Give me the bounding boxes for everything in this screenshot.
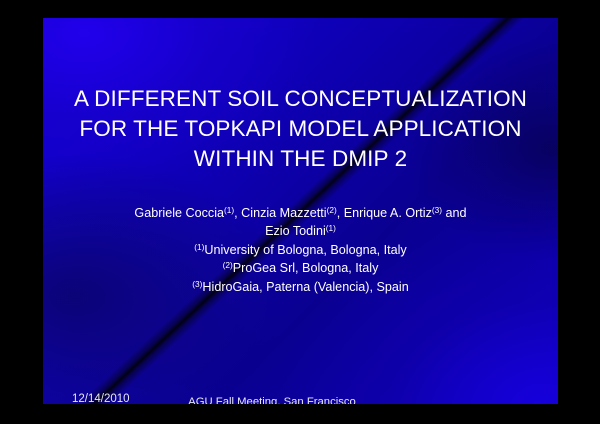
author-name-4: Ezio Todini	[265, 224, 326, 238]
slide-title: A DIFFERENT SOIL CONCEPTUALIZATION FOR T…	[57, 84, 544, 174]
title-line-2: FOR THE TOPKAPI MODEL APPLICATION	[57, 114, 544, 144]
author-sup-3: (3)	[432, 205, 442, 215]
presentation-canvas: A DIFFERENT SOIL CONCEPTUALIZATION FOR T…	[0, 0, 600, 424]
title-slide[interactable]: A DIFFERENT SOIL CONCEPTUALIZATION FOR T…	[43, 18, 558, 404]
author-line-1: Gabriele Coccia(1), Cinzia Mazzetti(2), …	[57, 204, 544, 222]
affiliation-sup-1: (1)	[194, 242, 204, 252]
author-sup-4: (1)	[326, 223, 336, 233]
affiliation-sup-3: (3)	[192, 279, 202, 289]
author-name-1: Gabriele Coccia	[134, 206, 224, 220]
affiliation-text-3: HidroGaia, Paterna (Valencia), Spain	[202, 280, 408, 294]
footer-meeting-name: AGU Fall Meeting, San Francisco	[57, 394, 487, 404]
author-sep-2: ,	[337, 206, 344, 220]
affiliation-line-1: (1)University of Bologna, Bologna, Italy	[57, 241, 544, 259]
author-name-3: Enrique A. Ortiz	[344, 206, 432, 220]
author-name-2: Cinzia Mazzetti	[241, 206, 326, 220]
author-sep-3: and	[442, 206, 467, 220]
author-affiliation-block: Gabriele Coccia(1), Cinzia Mazzetti(2), …	[57, 204, 544, 296]
author-sup-1: (1)	[224, 205, 234, 215]
author-line-2: Ezio Todini(1)	[57, 222, 544, 240]
title-line-1: A DIFFERENT SOIL CONCEPTUALIZATION	[57, 84, 544, 114]
title-line-3: WITHIN THE DMIP 2	[57, 144, 544, 174]
affiliation-sup-2: (2)	[223, 260, 233, 270]
affiliation-line-2: (2)ProGea Srl, Bologna, Italy	[57, 259, 544, 277]
affiliation-line-3: (3)HidroGaia, Paterna (Valencia), Spain	[57, 278, 544, 296]
affiliation-text-1: University of Bologna, Bologna, Italy	[204, 243, 406, 257]
slide-content: A DIFFERENT SOIL CONCEPTUALIZATION FOR T…	[43, 18, 558, 404]
author-sup-2: (2)	[327, 205, 337, 215]
affiliation-text-2: ProGea Srl, Bologna, Italy	[233, 261, 379, 275]
